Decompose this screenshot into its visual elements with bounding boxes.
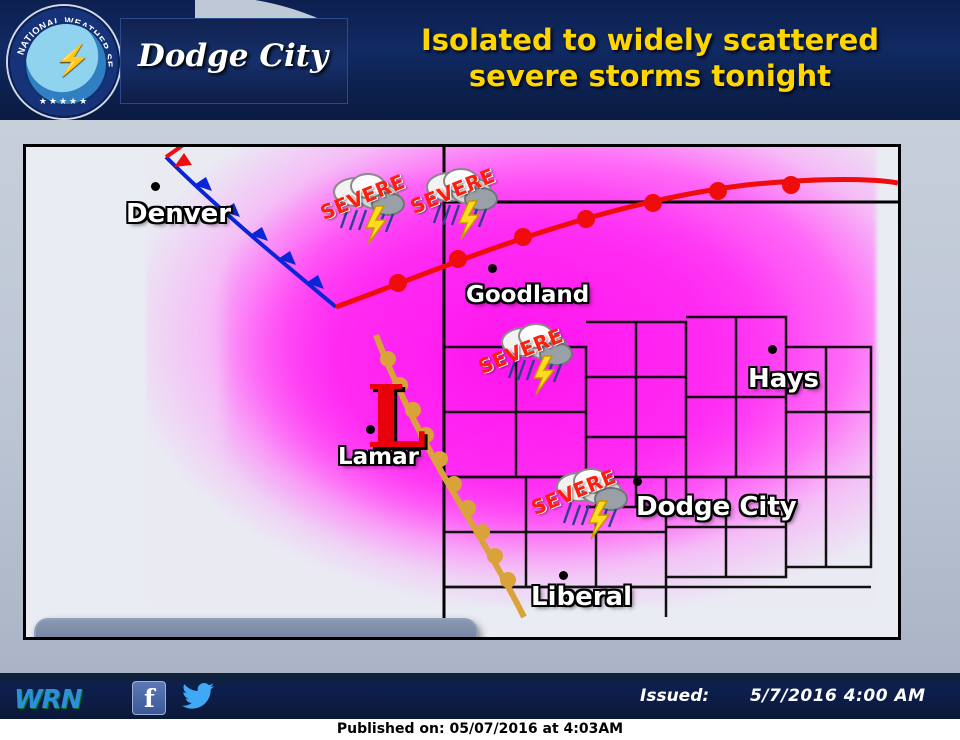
- forecast-callout: Storms developing along dryline late aft…: [34, 618, 478, 640]
- page-title: Isolated to widely scattered severe stor…: [350, 22, 950, 94]
- city-label: Denver: [126, 199, 231, 229]
- headline-line-1: Isolated to widely scattered: [350, 22, 950, 58]
- city-label: Dodge City: [636, 492, 797, 522]
- office-name: Dodge City: [128, 38, 338, 74]
- twitter-icon[interactable]: [182, 681, 216, 713]
- facebook-glyph: f: [144, 684, 155, 713]
- headline-line-2: severe storms tonight: [350, 58, 950, 94]
- cold-front-icon: [166, 157, 336, 307]
- seal-stars: ★★★★★: [10, 96, 118, 107]
- header-banner: NATIONAL WEATHER SERVICE ⚡ ★★★★★ Dodge C…: [0, 0, 960, 120]
- lightning-bolt-icon: ⚡: [54, 46, 91, 76]
- facebook-icon[interactable]: f: [132, 681, 166, 715]
- nws-seal-icon: NATIONAL WEATHER SERVICE ⚡ ★★★★★: [8, 6, 120, 118]
- city-dot: [559, 571, 568, 580]
- issued-label: Issued:: [640, 686, 709, 706]
- city-dot: [488, 264, 497, 273]
- city-dot: [366, 425, 375, 434]
- published-timestamp: Published on: 05/07/2016 at 4:03AM: [0, 721, 960, 737]
- wrn-logo: WRN: [14, 685, 81, 715]
- city-label: Hays: [748, 364, 819, 394]
- weather-graphic: NATIONAL WEATHER SERVICE ⚡ ★★★★★ Dodge C…: [0, 0, 960, 740]
- city-label: Goodland: [466, 282, 589, 308]
- forecast-map: L DenverGoodlandHaysLamarDodge CityLiber…: [23, 144, 901, 640]
- callout-line-1: Storms developing along dryline: [36, 638, 476, 640]
- city-dot: [768, 345, 777, 354]
- city-dot: [151, 182, 160, 191]
- city-label: Lamar: [338, 444, 419, 470]
- issued-value: 5/7/2016 4:00 AM: [750, 686, 926, 706]
- city-label: Liberal: [531, 582, 632, 612]
